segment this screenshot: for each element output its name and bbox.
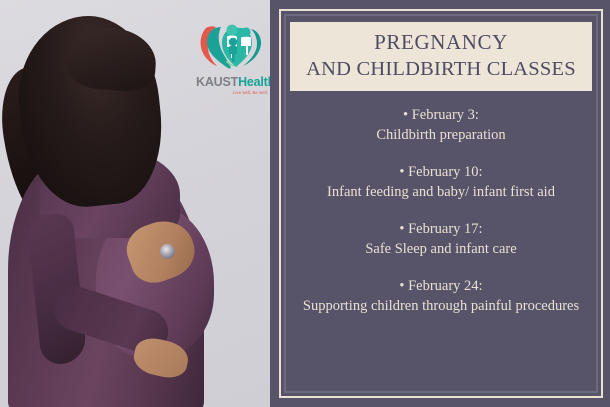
session-list: • February 3: Childbirth preparation • F…: [286, 105, 596, 317]
heart-family-logo-icon: [196, 18, 270, 70]
list-item: • February 17: Safe Sleep and infant car…: [296, 219, 586, 260]
photo-pane: KAUSTHealth Live well, Be well.: [0, 0, 270, 407]
session-topic: Infant feeding and baby/ infant first ai…: [296, 182, 586, 203]
session-topic: Childbirth preparation: [296, 125, 586, 146]
session-topic: Safe Sleep and infant care: [296, 239, 586, 260]
kaust-health-logo: KAUSTHealth Live well, Be well.: [196, 18, 270, 102]
session-date: • February 24:: [296, 276, 586, 296]
list-item: • February 3: Childbirth preparation: [296, 105, 586, 146]
session-topic: Supporting children through painful proc…: [296, 296, 586, 317]
pregnancy-class-flyer: KAUSTHealth Live well, Be well. PREGNANC…: [0, 0, 610, 407]
list-item: • February 24: Supporting children throu…: [296, 276, 586, 317]
ring: [160, 244, 175, 259]
session-date: • February 17:: [296, 219, 586, 239]
title-line-1: PREGNANCY: [296, 29, 586, 56]
title-block: PREGNANCY AND CHILDBIRTH CLASSES: [290, 22, 592, 91]
logo-brand-health: Health: [238, 75, 270, 89]
session-date: • February 10:: [296, 162, 586, 182]
session-date: • February 3:: [296, 105, 586, 125]
title-line-2: AND CHILDBIRTH CLASSES: [296, 56, 586, 83]
panel-outer-border: PREGNANCY AND CHILDBIRTH CLASSES • Febru…: [279, 9, 603, 398]
logo-tagline: Live well, Be well.: [196, 90, 270, 95]
logo-wordmark: KAUSTHealth: [196, 76, 270, 89]
info-panel: PREGNANCY AND CHILDBIRTH CLASSES • Febru…: [270, 0, 610, 407]
logo-brand-kaust: KAUST: [196, 75, 238, 89]
list-item: • February 10: Infant feeding and baby/ …: [296, 162, 586, 203]
panel-inner-border: PREGNANCY AND CHILDBIRTH CLASSES • Febru…: [284, 14, 598, 393]
